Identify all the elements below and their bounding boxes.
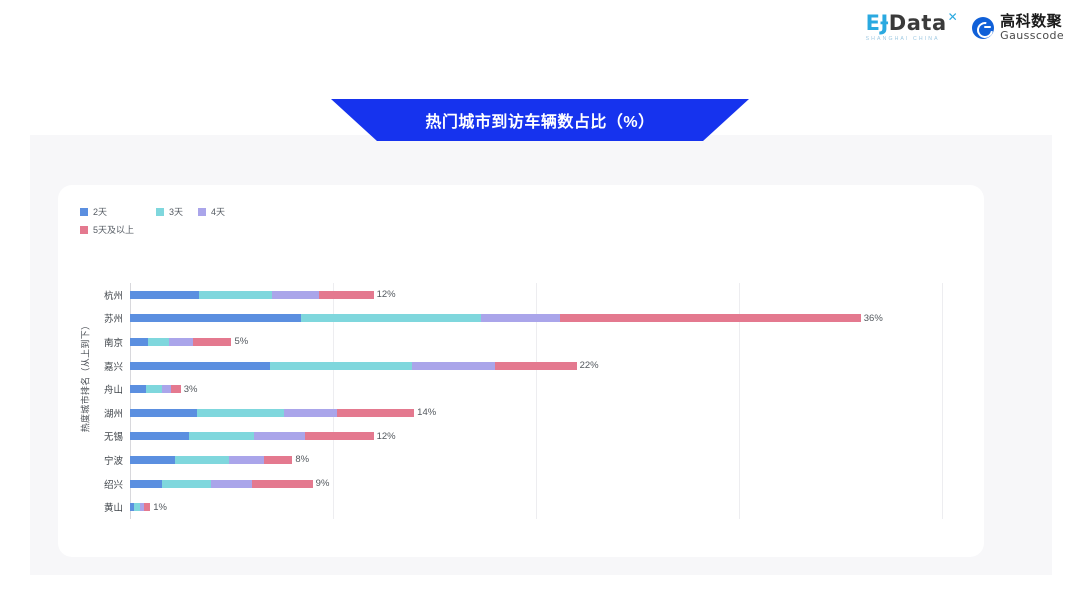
bar-value-label: 14% [417,407,436,418]
bar-segment [252,480,313,488]
stacked-bar[interactable] [130,385,181,393]
bar-segment [189,432,254,440]
gausscode-wordmark: 高科数聚 Gausscode [1000,14,1064,41]
bar-segment [146,385,162,393]
stacked-bar[interactable] [130,362,577,370]
bar-row[interactable]: 杭州12% [58,283,984,307]
bar-segment [130,314,301,322]
bar-row[interactable]: 南京5% [58,330,984,354]
bar-segment [270,362,412,370]
bar-row[interactable]: 宁波8% [58,448,984,472]
chart-card: 2天3天4天5天及以上 热度城市排名（从上到下） 杭州12%苏州36%南京5%嘉… [58,185,984,557]
bar-value-label: 9% [316,478,330,489]
bar-value-label: 12% [377,289,396,300]
bar-segment [130,338,148,346]
evdata-logo: EɈData✕ shanghai china [866,13,959,42]
bar-value-label: 8% [295,454,309,465]
brand-header: EɈData✕ shanghai china 高科数聚 Gausscode [866,10,1064,46]
bar-row[interactable]: 嘉兴22% [58,354,984,378]
gausscode-english-name: Gausscode [1000,30,1064,42]
page-title: 热门城市到访车辆数占比（%） [425,108,654,132]
stacked-bar[interactable] [130,291,374,299]
category-label: 湖州 [58,406,130,420]
plot-area: 热度城市排名（从上到下） 杭州12%苏州36%南京5%嘉兴22%舟山3%湖州14… [58,185,984,557]
bar-row[interactable]: 舟山3% [58,377,984,401]
bar-row[interactable]: 黄山1% [58,495,984,519]
stacked-bar[interactable] [130,503,150,511]
stacked-bar[interactable] [130,409,414,417]
category-label: 无锡 [58,429,130,443]
bar-segment [169,338,193,346]
evdata-tagline: shanghai china [866,37,940,42]
gausscode-logo: 高科数聚 Gausscode [972,14,1064,41]
gausscode-mark-icon [972,17,994,39]
bar-segment [171,385,181,393]
bar-segment [211,480,252,488]
evdata-x-icon: ✕ [948,11,959,23]
bar-segment [130,362,270,370]
category-label: 黄山 [58,500,130,514]
bar-segment [197,409,284,417]
gausscode-chinese-name: 高科数聚 [1000,14,1064,30]
bar-segment [175,456,230,464]
bar-value-label: 1% [153,502,167,513]
bar-segment [305,432,374,440]
chart-title-banner: 热门城市到访车辆数占比（%） [331,99,749,141]
bar-segment [130,291,199,299]
bar-segment [337,409,414,417]
bar-value-label: 3% [184,384,198,395]
bar-segment [144,503,150,511]
stacked-bar[interactable] [130,314,861,322]
bar-segment [162,385,170,393]
evdata-data-text: Data [889,13,947,34]
category-label: 南京 [58,335,130,349]
bar-row[interactable]: 苏州36% [58,307,984,331]
bar-segment [284,409,337,417]
bar-segment [130,456,175,464]
bar-segment [162,480,211,488]
bar-segment [560,314,860,322]
bar-segment [193,338,232,346]
bar-segment [254,432,305,440]
category-label: 嘉兴 [58,359,130,373]
category-label: 舟山 [58,382,130,396]
bar-value-label: 36% [864,313,883,324]
bar-segment [199,291,272,299]
bar-segment [229,456,264,464]
bar-segment [130,480,162,488]
bar-segment [130,385,146,393]
bar-value-label: 22% [580,360,599,371]
bar-segment [412,362,495,370]
bar-segment [481,314,560,322]
bar-value-label: 5% [234,336,248,347]
stacked-bar[interactable] [130,432,374,440]
bar-segment [301,314,482,322]
slide-page: EɈData✕ shanghai china 高科数聚 Gausscode 热门… [0,0,1080,608]
bar-segment [319,291,374,299]
category-label: 苏州 [58,311,130,325]
bar-segment [130,432,189,440]
bar-segment [130,409,197,417]
stacked-bar[interactable] [130,338,231,346]
bar-segment [272,291,319,299]
bar-segment [148,338,168,346]
evdata-wordmark: EɈData✕ [866,13,959,34]
category-label: 宁波 [58,453,130,467]
category-label: 绍兴 [58,477,130,491]
category-label: 杭州 [58,288,130,302]
stacked-bar[interactable] [130,456,292,464]
bar-segment [264,456,292,464]
bar-segment [495,362,576,370]
bar-row[interactable]: 湖州14% [58,401,984,425]
bar-row[interactable]: 无锡12% [58,425,984,449]
evdata-ev-text: EɈ [866,13,889,34]
bar-rows: 杭州12%苏州36%南京5%嘉兴22%舟山3%湖州14%无锡12%宁波8%绍兴9… [58,283,984,519]
bar-value-label: 12% [377,431,396,442]
stacked-bar[interactable] [130,480,313,488]
bar-row[interactable]: 绍兴9% [58,472,984,496]
